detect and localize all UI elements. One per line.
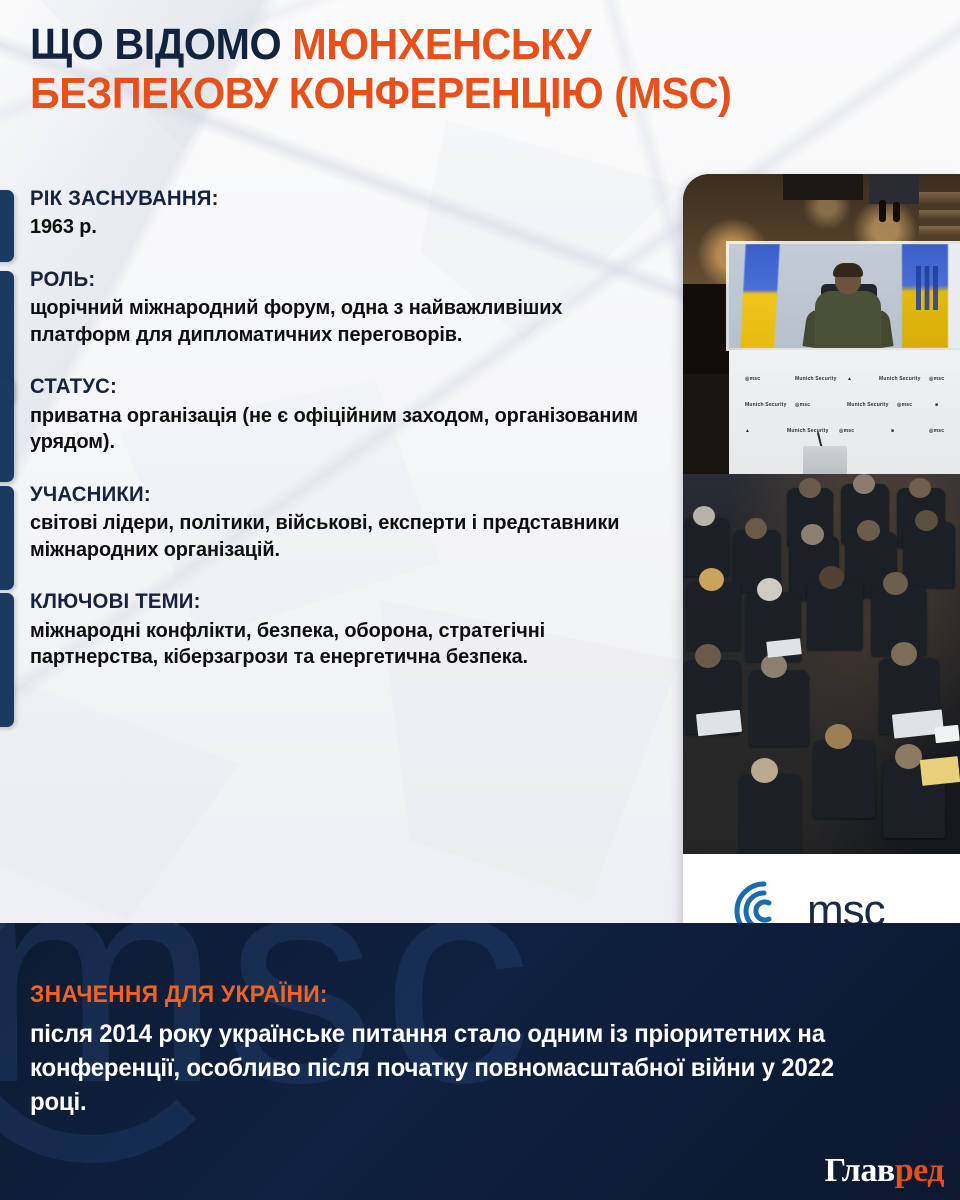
fact-heading: УЧАСНИКИ: [30, 482, 653, 508]
backdrop-msc-logo: ◎msc [839, 428, 854, 434]
audience-head [883, 572, 908, 595]
title-line-1: ЩО ВІДОМО МЮНХЕНСЬКУ [30, 20, 885, 69]
fact-heading: РІК ЗАСНУВАННЯ: [30, 186, 653, 212]
fact-item: РІК ЗАСНУВАННЯ: 1963 р. [0, 186, 672, 241]
poster-title: ЩО ВІДОМО МЮНХЕНСЬКУ БЕЗПЕКОВУ КОНФЕРЕНЦ… [30, 20, 940, 119]
audience-head [745, 518, 767, 539]
impact-section: msc ЗНАЧЕННЯ ДЛЯ УКРАЇНИ: після 2014 рок… [0, 923, 960, 1200]
audience-paper [934, 725, 960, 743]
fact-body: світові лідери, політики, військові, екс… [30, 510, 653, 563]
fact-body: 1963 р. [30, 214, 653, 241]
title-highlight-text-2: БЕЗПЕКОВУ КОНФЕРЕНЦІЮ (MSC) [30, 69, 731, 118]
backdrop-msc-logo: ◎msc [897, 402, 912, 408]
brand-part-orange: ред [895, 1152, 944, 1189]
audience-head [751, 758, 778, 783]
backdrop-msc-logo: ◎msc [929, 428, 944, 434]
fact-body: щорічний міжнародний форум, одна з найва… [30, 295, 653, 348]
speaker-hair [833, 263, 863, 277]
impact-text-block: ЗНАЧЕННЯ ДЛЯ УКРАЇНИ: після 2014 року ук… [30, 981, 930, 1119]
fact-body: приватна організація (не є офіційним зах… [30, 403, 653, 456]
photo-hall-beam [869, 174, 919, 204]
audience-seat [739, 774, 801, 854]
backdrop-msc-logo: ◎msc [745, 376, 760, 382]
brand-part-white: Глав [825, 1152, 895, 1189]
publisher-logo[interactable]: Главред [825, 1154, 945, 1188]
audience-paper [920, 756, 960, 786]
audience-head [801, 524, 824, 545]
audience-seat [903, 522, 955, 588]
audience-seat [807, 580, 863, 650]
photo-card: ◎msc Munich Security ▲ Munich Security ◎… [683, 174, 960, 972]
infographic-poster: ЩО ВІДОМО МЮНХЕНСЬКУ БЕЗПЕКОВУ КОНФЕРЕНЦ… [0, 0, 960, 1200]
facts-list: РІК ЗАСНУВАННЯ: 1963 р. РОЛЬ: щорічний м… [0, 186, 672, 697]
audience-paper [696, 710, 742, 736]
backdrop-text-logo: Munich Security [745, 402, 787, 408]
accent-bar [0, 378, 14, 482]
photo-hall-beam [783, 174, 863, 200]
photo-hall-beam [919, 226, 960, 235]
fact-heading: РОЛЬ: [30, 267, 653, 293]
audience-area [683, 474, 960, 854]
backdrop-text-logo: Munich Security [879, 376, 921, 382]
photo-hall-beam [919, 192, 960, 204]
backdrop-text-logo: Munich Security [787, 428, 829, 434]
ukraine-flag-left-icon [740, 244, 779, 348]
backdrop-mark: ■ [935, 402, 938, 408]
fact-item: УЧАСНИКИ: світові лідери, політики, війс… [0, 482, 672, 564]
impact-heading: ЗНАЧЕННЯ ДЛЯ УКРАЇНИ: [30, 981, 885, 1009]
accent-bar [0, 190, 14, 262]
audience-seat [749, 670, 809, 746]
audience-head [819, 566, 844, 589]
audience-head [799, 478, 821, 498]
photo-hall-beam [919, 210, 960, 219]
audience-seat [813, 740, 875, 818]
fact-heading: КЛЮЧОВІ ТЕМИ: [30, 589, 653, 615]
audience-seat [683, 518, 729, 576]
title-plain-text: ЩО ВІДОМО [30, 20, 292, 69]
backdrop-mark: ▲ [847, 376, 852, 382]
fact-body: міжнародні конфлікти, безпека, оборона, … [30, 618, 653, 671]
backdrop-text-logo: Munich Security [847, 402, 889, 408]
fact-heading: СТАТУС: [30, 374, 653, 400]
title-line-2: БЕЗПЕКОВУ КОНФЕРЕНЦІЮ (MSC) [30, 69, 885, 118]
audience-head [915, 510, 938, 531]
conference-photo: ◎msc Munich Security ▲ Munich Security ◎… [683, 174, 960, 854]
audience-head [761, 654, 787, 678]
accent-bar [0, 593, 14, 727]
backdrop-mark: ▲ [745, 428, 750, 434]
accent-bar [0, 486, 14, 590]
audience-head [891, 642, 917, 666]
backdrop-text-logo: Munich Security [795, 376, 837, 382]
fact-item: СТАТУС: приватна організація (не є офіці… [0, 374, 672, 456]
backdrop-msc-logo: ◎msc [795, 402, 810, 408]
photo-person-silhouette [893, 202, 900, 222]
impact-body: після 2014 року українське питання стало… [30, 1017, 894, 1119]
title-highlight-text: МЮНХЕНСЬКУ [292, 20, 591, 69]
bg-polygon [0, 680, 240, 920]
audience-head [693, 506, 715, 526]
trident-emblem-icon [916, 266, 938, 310]
audience-seat [687, 582, 741, 650]
video-screen [729, 244, 960, 348]
audience-head [895, 744, 922, 769]
audience-head [909, 478, 931, 498]
audience-head [857, 520, 880, 541]
fact-item: РОЛЬ: щорічний міжнародний форум, одна з… [0, 267, 672, 349]
backdrop-msc-logo: ◎msc [929, 376, 944, 382]
audience-head [853, 474, 875, 494]
speaker-body [815, 291, 881, 348]
photo-person-silhouette [879, 200, 886, 222]
audience-head [757, 578, 782, 601]
audience-head [699, 568, 724, 591]
fact-item: КЛЮЧОВІ ТЕМИ: міжнародні конфлікти, безп… [0, 589, 672, 671]
backdrop-mark: ■ [891, 428, 894, 434]
audience-head [825, 724, 852, 749]
audience-head [695, 644, 721, 668]
